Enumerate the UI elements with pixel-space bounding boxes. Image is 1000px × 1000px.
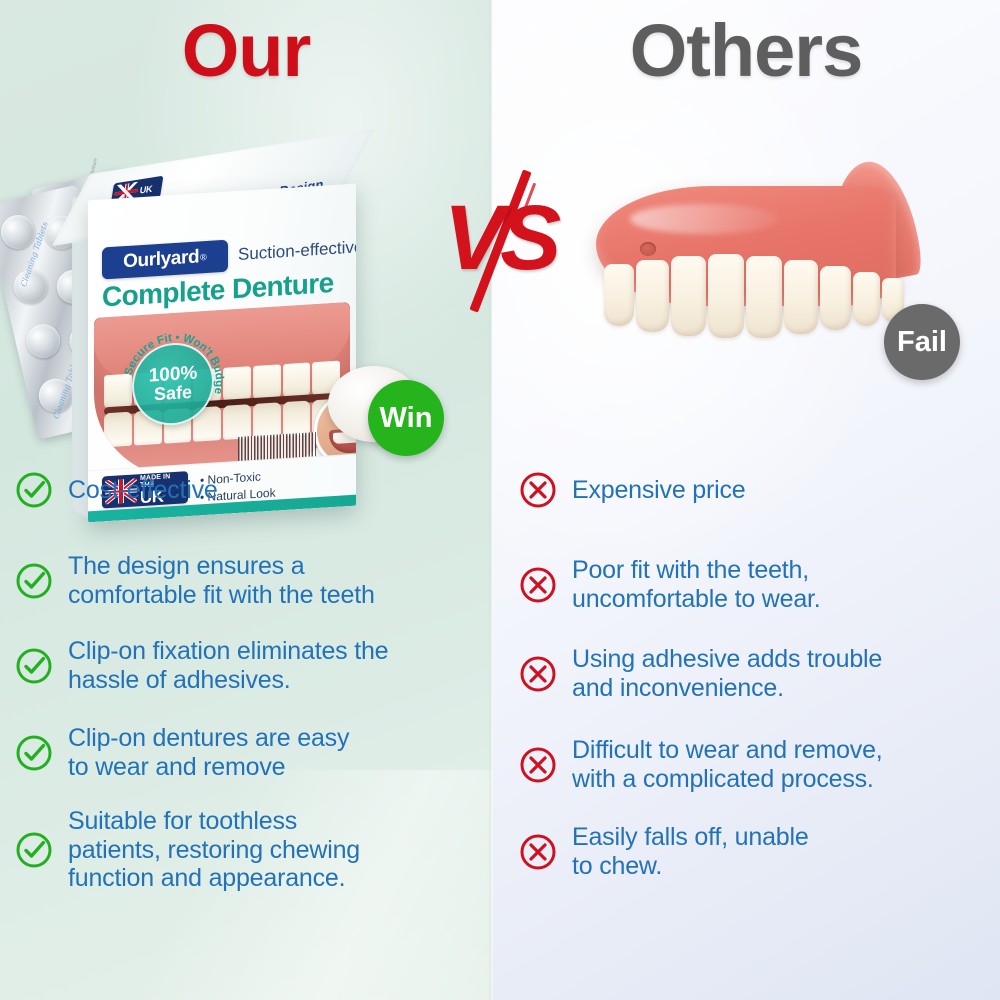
our-benefits-list: Cost-effective The design ensures a comf… bbox=[14, 470, 474, 915]
brand-tag: Ourlyard ® bbox=[102, 240, 228, 280]
cross-circle-icon bbox=[518, 565, 558, 605]
others-denture-veneer-image bbox=[596, 168, 926, 378]
lid-flag-label: UK bbox=[139, 183, 153, 195]
list-item: Clip-on fixation eliminates the hassle o… bbox=[14, 637, 474, 694]
list-item: Clip-on dentures are easy to wear and re… bbox=[14, 724, 474, 781]
veneer-highlight bbox=[630, 204, 780, 234]
versus-emblem: VS bbox=[424, 172, 576, 304]
list-item-label: Suitable for toothless patients, restori… bbox=[68, 807, 360, 893]
panel-divider bbox=[489, 0, 493, 1000]
svg-text:Secure Fit • Won't Budge: Secure Fit • Won't Budge bbox=[123, 329, 225, 401]
list-item: The design ensures a comfortable fit wit… bbox=[14, 552, 474, 609]
list-item-label: Easily falls off, unable to chew. bbox=[572, 823, 809, 880]
comparison-infographic: Our Others Cleaning Tablets Cleaning Tab… bbox=[0, 0, 1000, 1000]
others-drawbacks-list: Expensive price Poor fit with the teeth,… bbox=[518, 470, 978, 902]
check-circle-icon bbox=[14, 561, 54, 601]
win-badge: Win bbox=[368, 380, 444, 456]
list-item: Cost-effective bbox=[14, 470, 474, 510]
list-item: Using adhesive adds trouble and inconven… bbox=[518, 645, 978, 702]
list-item-label: Clip-on dentures are easy to wear and re… bbox=[68, 724, 349, 781]
list-item: Difficult to wear and remove, with a com… bbox=[518, 736, 978, 793]
fail-badge: Fail bbox=[884, 304, 960, 380]
ring-label: Secure Fit • Won't Budge bbox=[123, 329, 225, 401]
list-item-label: Poor fit with the teeth, uncomfortable t… bbox=[572, 556, 821, 613]
suction-effective-label: Suction-effective bbox=[238, 237, 356, 265]
veneer-teeth-row bbox=[604, 254, 904, 346]
list-item: Poor fit with the teeth, uncomfortable t… bbox=[518, 556, 978, 613]
list-item-label: Cost-effective bbox=[68, 476, 218, 505]
cross-circle-icon bbox=[518, 832, 558, 872]
list-item: Expensive price bbox=[518, 470, 978, 510]
cross-circle-icon bbox=[518, 470, 558, 510]
registered-mark: ® bbox=[200, 252, 207, 262]
list-item-label: Difficult to wear and remove, with a com… bbox=[572, 736, 883, 793]
safety-ring-text: Secure Fit • Won't Budge bbox=[120, 328, 226, 441]
check-circle-icon bbox=[14, 646, 54, 686]
list-item-label: Using adhesive adds trouble and inconven… bbox=[572, 645, 882, 702]
list-item-label: The design ensures a comfortable fit wit… bbox=[68, 552, 375, 609]
others-title: Others bbox=[492, 8, 1000, 93]
vs-label: VS bbox=[424, 172, 576, 304]
cross-circle-icon bbox=[518, 654, 558, 694]
list-item-label: Expensive price bbox=[572, 476, 745, 505]
brand-name: Ourlyard bbox=[123, 246, 199, 273]
list-item: Easily falls off, unable to chew. bbox=[518, 823, 978, 880]
check-circle-icon bbox=[14, 733, 54, 773]
list-item: Suitable for toothless patients, restori… bbox=[14, 807, 474, 893]
check-circle-icon bbox=[14, 470, 54, 510]
check-circle-icon bbox=[14, 830, 54, 870]
list-item-label: Clip-on fixation eliminates the hassle o… bbox=[68, 637, 388, 694]
cross-circle-icon bbox=[518, 745, 558, 785]
